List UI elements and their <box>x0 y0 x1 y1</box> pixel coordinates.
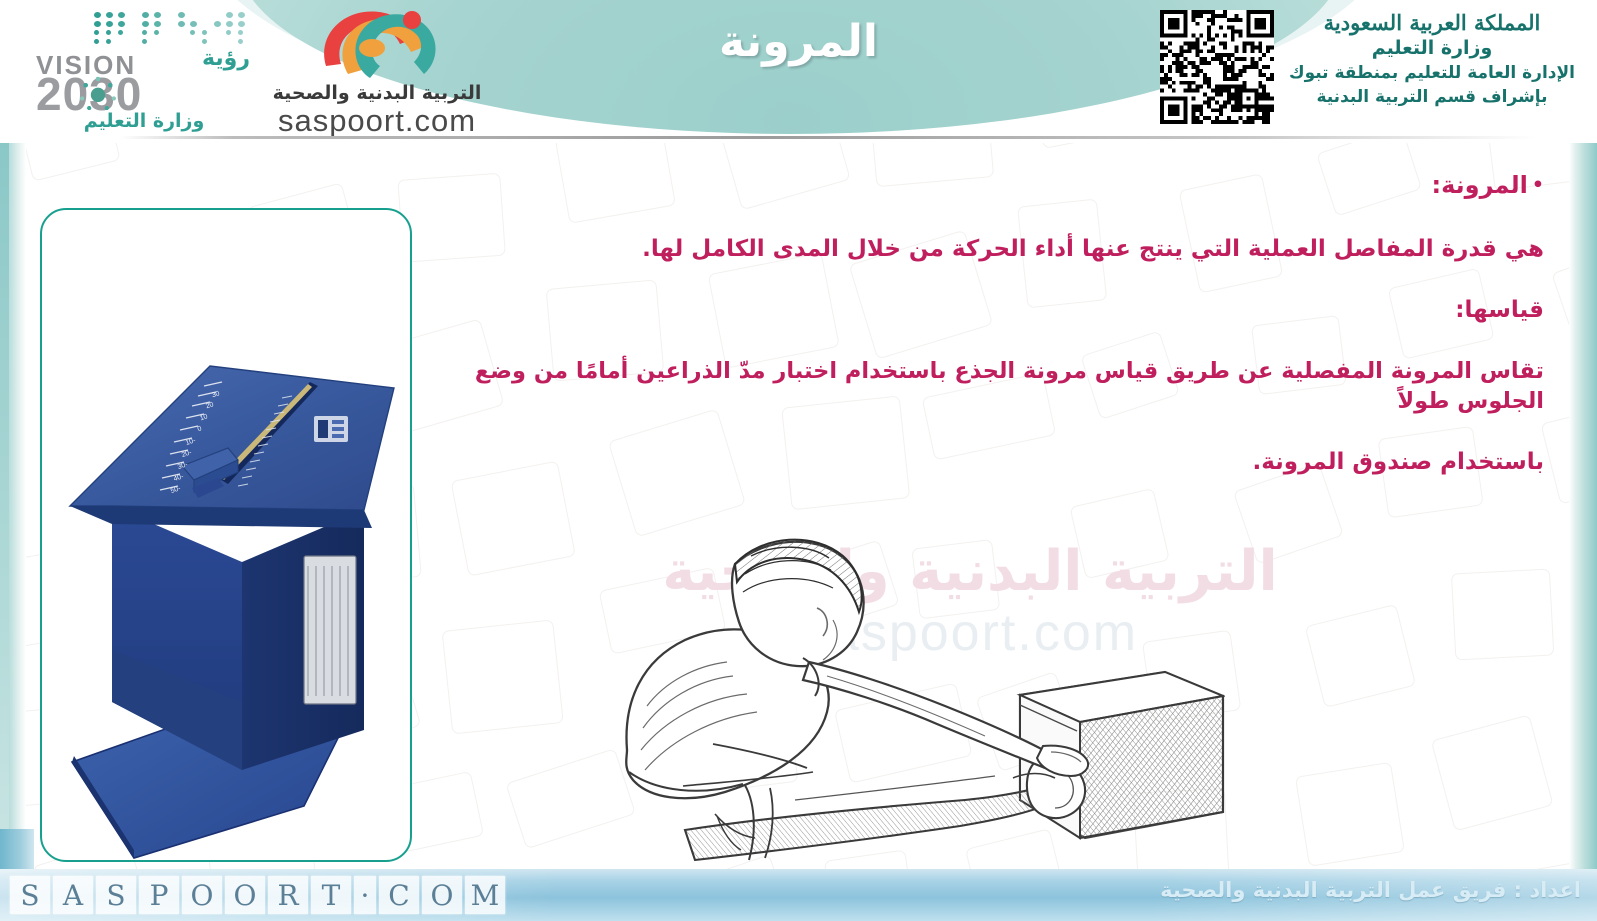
footer-letter-cell: O <box>422 876 462 914</box>
background-tile <box>17 140 121 182</box>
vision-dot <box>178 21 185 27</box>
footer-credit: اعداد : فريق عمل التربية البدنية والصحية <box>1160 878 1581 902</box>
vision-dot <box>106 21 113 27</box>
footer-letter-cell: S <box>96 876 136 914</box>
vision-dot <box>154 30 159 35</box>
vision-dot <box>238 39 243 44</box>
saspoort-logo[interactable]: التربية البدنية والصحية saspoort.com <box>262 4 492 140</box>
vision-dot <box>238 12 245 18</box>
slide-root: التربية البدنية والصحية saspoort.com <box>0 0 1597 921</box>
vision-dot <box>154 12 161 18</box>
vision-dot <box>94 21 101 27</box>
footer-letter-cell: O <box>225 876 265 914</box>
saspoort-url-label[interactable]: saspoort.com <box>262 103 492 139</box>
qr-code-icon[interactable] <box>1160 10 1274 130</box>
vision-dot <box>118 12 125 18</box>
footer-letter-cell: A <box>53 876 93 914</box>
vision-dot <box>142 39 147 44</box>
vision-dot <box>154 21 161 27</box>
vision-dot <box>214 21 221 27</box>
vision-dot <box>190 21 197 27</box>
flexibility-box-image: -50 -40 -30 -20 -10 0 10 20 30 <box>42 210 410 860</box>
vision-dot <box>118 21 125 27</box>
vision-2030-logo: VISION رؤية 2030 وزارة التعليم <box>36 6 252 136</box>
ministry-line-1: المملكة العربية السعودية <box>1284 10 1580 36</box>
vision-dot <box>202 30 207 35</box>
vision-dot <box>94 30 99 35</box>
bullet-icon: • <box>1532 170 1544 200</box>
background-tile <box>442 619 564 734</box>
slide-header: المرونة VISION رؤية 2030 وزارة التعليم <box>0 0 1597 143</box>
vision-dot <box>106 12 113 18</box>
vision-word-ar: رؤية <box>202 46 250 71</box>
vision-dot <box>178 12 185 18</box>
vision-dot <box>190 30 195 35</box>
body-line-4: باستخدام صندوق المرونة. <box>420 447 1550 477</box>
vision-dot <box>106 39 111 44</box>
body-heading-text: المرونة: <box>1432 171 1528 199</box>
background-tile <box>1305 604 1417 708</box>
vision-dot <box>202 39 207 44</box>
ministry-line-2: وزارة التعليم <box>1284 36 1580 61</box>
footer-letter-cell: T <box>311 876 351 914</box>
lesson-body: •المرونة: هي قدرة المفاصل العملية التي ي… <box>420 170 1550 530</box>
vision-dot <box>142 12 149 18</box>
vision-dot <box>142 30 147 35</box>
vision-dot <box>238 30 243 35</box>
body-heading: •المرونة: <box>420 170 1550 200</box>
ministry-line-3: الإدارة العامة للتعليم بمنطقة تبوك <box>1284 61 1580 85</box>
background-tile <box>1451 568 1554 660</box>
background-tile <box>1431 714 1554 831</box>
footer-letter-cell: · <box>354 876 376 914</box>
body-line-3: تقاس المرونة المفصلية عن طريق قياس مرونة… <box>420 356 1550 416</box>
footer-letter-cell: M <box>465 876 505 914</box>
sketch-legs <box>685 776 1057 860</box>
footer-letter-cell: P <box>139 876 179 914</box>
header-divider <box>120 136 1537 139</box>
slide-footer: SASPOORT·COM اعداد : فريق عمل التربية ال… <box>0 869 1597 921</box>
vision-dot <box>94 39 99 44</box>
vision-dot <box>226 12 233 18</box>
vision-dot <box>226 21 233 27</box>
footer-letter-cell: O <box>182 876 222 914</box>
footer-letter-cell: S <box>10 876 50 914</box>
flexibility-box-frame: -50 -40 -30 -20 -10 0 10 20 30 <box>40 208 412 862</box>
vision-dot <box>238 21 245 27</box>
background-tile <box>1295 762 1405 867</box>
vision-dot <box>118 30 123 35</box>
footer-letter-cell: C <box>379 876 419 914</box>
sit-and-reach-sketch <box>565 500 1225 875</box>
ministry-header-block: المملكة العربية السعودية وزارة التعليم ا… <box>1284 10 1580 109</box>
vision-dot <box>226 30 231 35</box>
vision-dot <box>142 21 149 27</box>
body-line-1: هي قدرة المفاصل العملية التي ينتج عنها أ… <box>420 234 1550 264</box>
footer-corner-notch <box>0 829 34 869</box>
saspoort-footer-wordmark: SASPOORT·COM <box>10 874 505 916</box>
ministry-line-4: بإشراف قسم التربية البدنية <box>1284 85 1580 109</box>
vision-dot <box>94 12 101 18</box>
footer-letter-cell: R <box>268 876 308 914</box>
saspoort-arabic-label: التربية البدنية والصحية <box>262 82 492 104</box>
body-line-2: قياسها: <box>420 295 1550 325</box>
vision-dot <box>106 30 111 35</box>
vision-ministry-label: وزارة التعليم <box>36 110 252 132</box>
saspoort-mark-icon <box>308 4 448 84</box>
